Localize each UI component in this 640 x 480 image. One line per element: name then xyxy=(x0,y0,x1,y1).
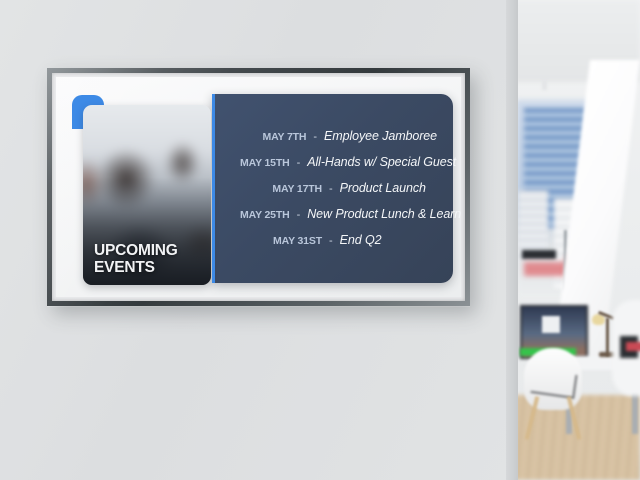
list-item: MAY 15TH - All-Hands w/ Special Guest xyxy=(240,155,437,169)
event-name: End Q2 xyxy=(340,233,382,247)
event-date: MAY 7TH xyxy=(240,131,306,143)
list-item: MAY 17TH - Product Launch xyxy=(240,181,437,195)
slide-title-line1: UPCOMING xyxy=(94,243,178,260)
event-name: Employee Jamboree xyxy=(324,129,437,143)
desk-object-red xyxy=(626,342,640,351)
event-separator: - xyxy=(322,183,340,195)
wall-corner-edge xyxy=(506,0,518,480)
event-date: MAY 25TH xyxy=(240,209,290,221)
office-interior-background xyxy=(514,0,640,480)
slide: UPCOMING EVENTS MAY 7TH - Employee Jambo… xyxy=(72,95,447,281)
list-item: MAY 7TH - Employee Jamboree xyxy=(240,129,437,143)
slide-title-line2: EVENTS xyxy=(94,260,178,277)
ceiling-spotlight xyxy=(542,80,547,90)
frame-inner: UPCOMING EVENTS MAY 7TH - Employee Jambo… xyxy=(52,73,465,301)
monitor-screen-card xyxy=(542,316,560,333)
picture-frame: UPCOMING EVENTS MAY 7TH - Employee Jambo… xyxy=(47,68,470,306)
desk-lamp-stem xyxy=(606,318,609,356)
photo-card: UPCOMING EVENTS xyxy=(83,105,211,285)
event-name: New Product Lunch & Learn xyxy=(307,207,461,221)
window-sill-object-red xyxy=(524,262,566,276)
event-separator: - xyxy=(322,235,340,247)
event-date: MAY 31ST xyxy=(240,235,322,247)
event-separator: - xyxy=(290,157,308,169)
slide-title: UPCOMING EVENTS xyxy=(94,243,178,276)
list-item: MAY 31ST - End Q2 xyxy=(240,233,437,247)
event-name: All-Hands w/ Special Guest xyxy=(307,155,456,169)
event-date: MAY 15TH xyxy=(240,157,290,169)
event-name: Product Launch xyxy=(340,181,426,195)
window-sill-object-dark xyxy=(522,250,556,259)
frame-mat: UPCOMING EVENTS MAY 7TH - Employee Jambo… xyxy=(56,77,461,297)
event-separator: - xyxy=(306,131,324,143)
panel-accent-bar xyxy=(212,94,215,283)
events-list: MAY 7TH - Employee Jamboree MAY 15TH - A… xyxy=(240,95,437,281)
event-separator: - xyxy=(290,209,308,221)
list-item: MAY 25TH - New Product Lunch & Learn xyxy=(240,207,437,221)
scene-root: UPCOMING EVENTS MAY 7TH - Employee Jambo… xyxy=(0,0,640,480)
event-date: MAY 17TH xyxy=(240,183,322,195)
